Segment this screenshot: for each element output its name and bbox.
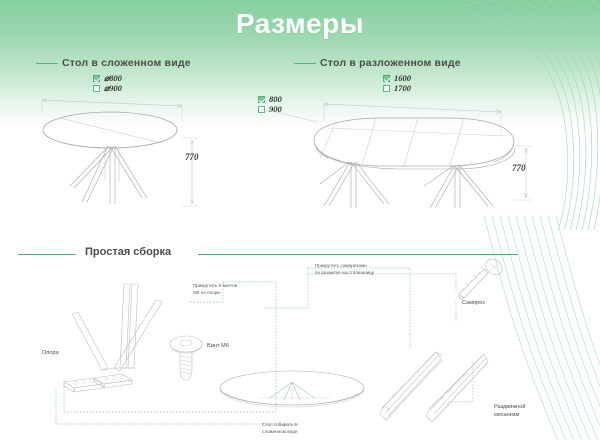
option-row[interactable]: ⌀800 [93, 73, 122, 83]
unfolded-height-dimension: 770 [512, 163, 526, 173]
note-line: сложенном виде [262, 429, 297, 436]
folded-height-dimension: 770 [185, 152, 199, 162]
part-label-slide-mechanism: Раздвижной механизм [494, 404, 525, 420]
note-fold-state: Стол собирать в сложенном виде [262, 422, 297, 435]
part-label-line: Раздвижной [494, 404, 525, 412]
option-row[interactable]: 1600 [383, 73, 411, 83]
self-tapping-screw-icon [454, 258, 508, 304]
part-label-self-tapping-screw: Саморез [462, 300, 485, 308]
folded-table-drawing [30, 88, 230, 208]
folded-section-caption: Стол в сложенном виде [62, 57, 191, 69]
bolt-m6-icon [158, 330, 218, 390]
checkbox-checked-icon[interactable] [93, 75, 100, 82]
page-title: Размеры [0, 8, 600, 40]
page-root: Размеры [0, 0, 600, 440]
assembly-divider: Простая сборка [18, 248, 518, 260]
unfolded-section-caption: Стол в разложенном виде [320, 57, 461, 69]
note-line: по разметке на столешницу [315, 270, 374, 277]
unfolded-table-drawing [258, 88, 538, 208]
part-label-bolt-m6: Винт М6 [207, 343, 229, 351]
option-label: ⌀800 [104, 73, 122, 83]
tabletop-underside-drawing [210, 368, 380, 423]
divider-line-right [198, 254, 518, 255]
divider-line-left [18, 254, 76, 255]
checkbox-checked-icon[interactable] [383, 75, 390, 82]
part-label-line: механизм [494, 412, 525, 420]
assembly-section-caption: Простая сборка [78, 246, 178, 258]
slide-mechanism-drawing [378, 340, 493, 432]
option-label: 1600 [394, 73, 411, 83]
note-line: Прикрутить саморезами [315, 263, 374, 270]
note-self-tapping: Прикрутить саморезами по разметке на сто… [315, 263, 374, 276]
part-label-support: Опора [42, 350, 59, 358]
